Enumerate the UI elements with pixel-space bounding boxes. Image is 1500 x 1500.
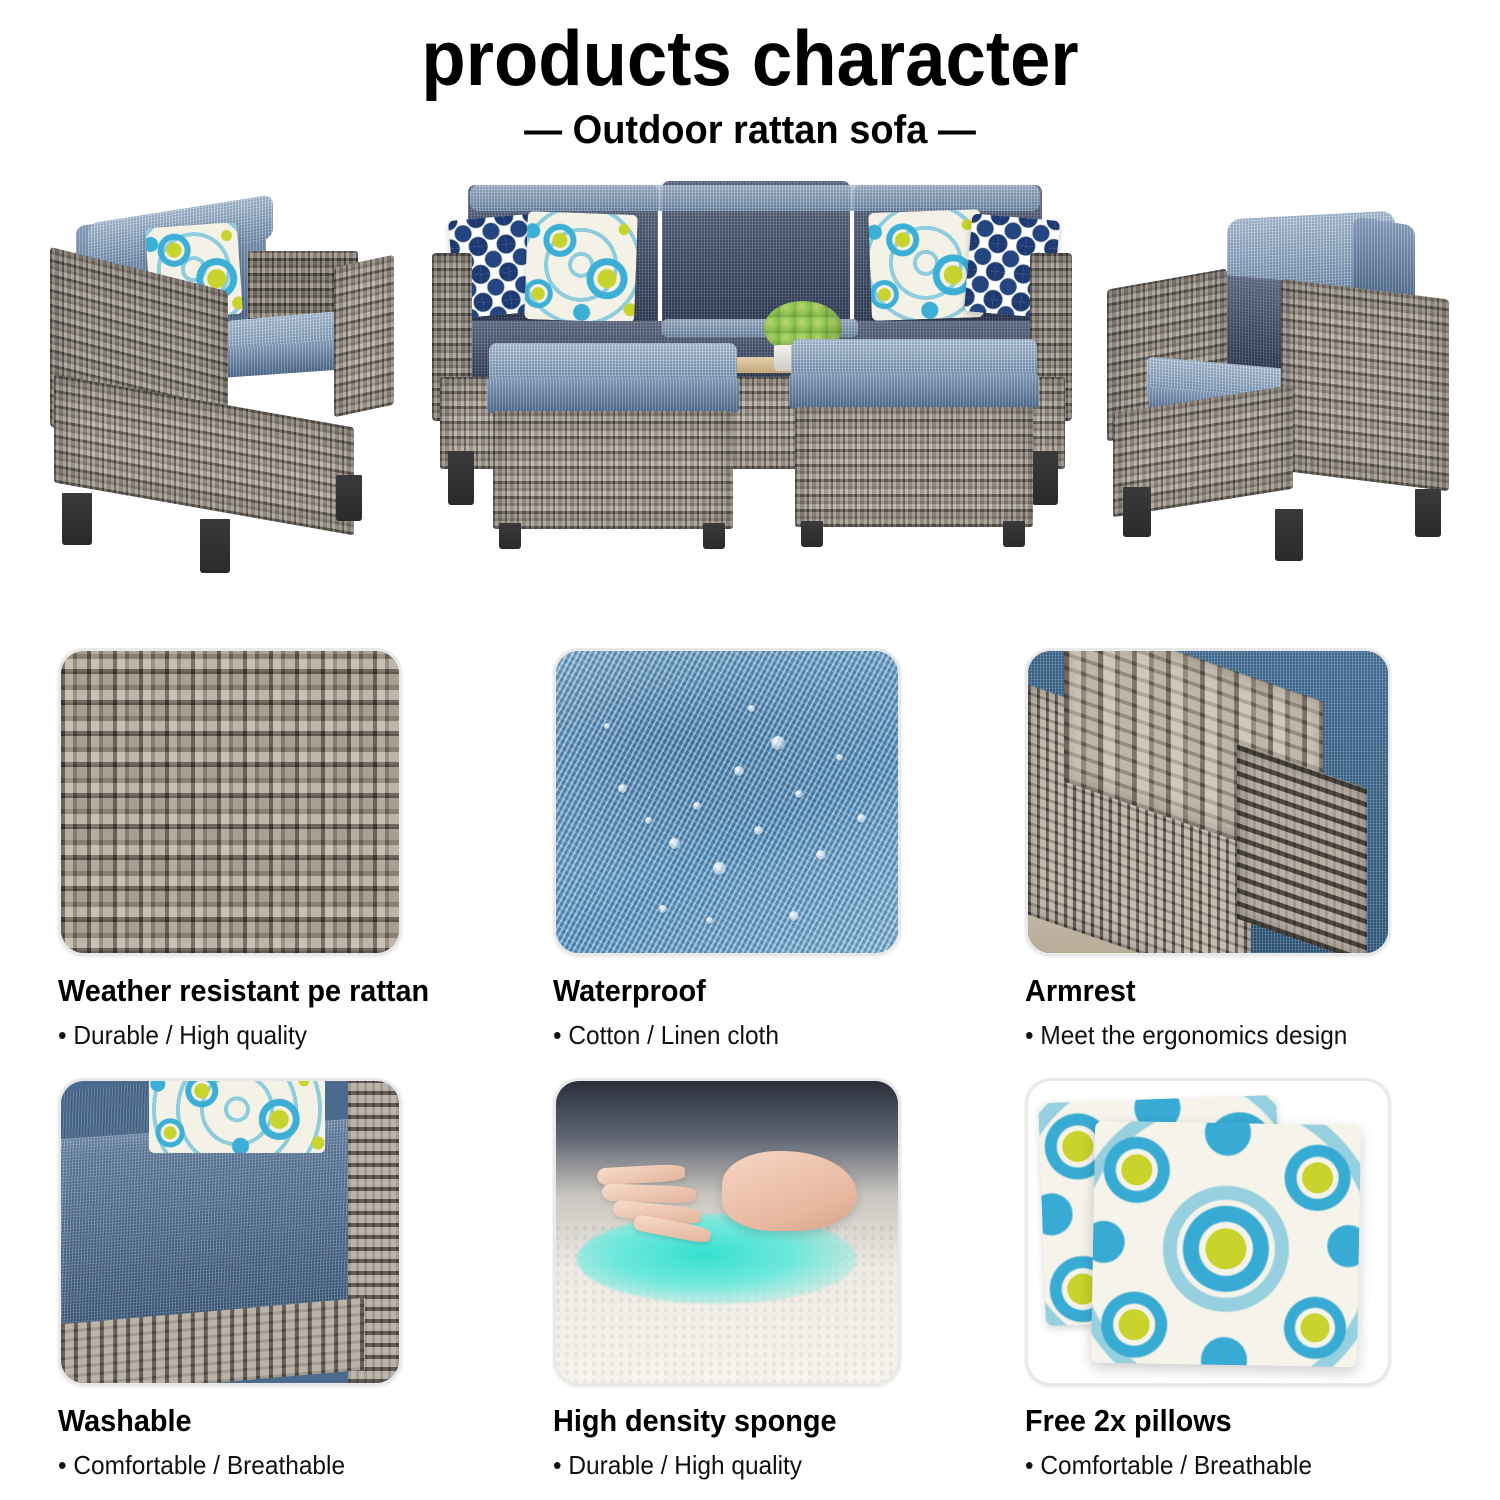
- feature-bullet: • Cotton / Linen cloth: [553, 1020, 880, 1051]
- armchair-right-arm-right: [1281, 279, 1449, 492]
- feature-card-weather-resistant-pe-rattan[interactable]: Weather resistant pe rattan • Durable / …: [58, 648, 402, 1051]
- feature-bullet: • Meet the ergonomics design: [1025, 1020, 1369, 1051]
- accent-pillow: [149, 1078, 325, 1153]
- ottoman-left-leg-left: [499, 523, 521, 549]
- page-title: products character: [53, 18, 1448, 100]
- armchair-left-leg-front-left: [62, 493, 92, 545]
- feature-heading: Free 2x pillows: [1025, 1403, 1365, 1439]
- hero-product-image: [0, 161, 1500, 581]
- infographic-header: products character — Outdoor rattan sofa…: [0, 0, 1500, 153]
- pillow-front: [1091, 1121, 1362, 1367]
- armchair-left-arm-right: [334, 255, 394, 418]
- thumb-blue-cushion-and-pillow-closeup: [58, 1078, 402, 1386]
- rattan-weave-texture: [61, 651, 399, 953]
- feature-row-1: Weather resistant pe rattan • Durable / …: [0, 640, 1500, 1070]
- armchair-left: [48, 203, 438, 563]
- feature-heading: Weather resistant pe rattan: [58, 973, 378, 1009]
- ottoman-right-base: [795, 407, 1033, 527]
- thumb-two-suzani-pattern-pillows: [1025, 1078, 1391, 1386]
- feature-grid: Weather resistant pe rattan • Durable / …: [0, 640, 1500, 1500]
- sofa-back-cushion-highlight: [470, 185, 1040, 211]
- ottoman-right-cushion-front: [789, 373, 1039, 409]
- memory-foam-scene: [556, 1081, 898, 1383]
- finger-1: [597, 1163, 686, 1185]
- feature-card-free-2x-pillows[interactable]: Free 2x pillows • Comfortable / Breathab…: [1025, 1078, 1391, 1481]
- ottoman-left-leg-right: [703, 523, 725, 549]
- armchair-left-leg-back-right: [336, 475, 362, 521]
- sofa-pillow-suzani-left: [524, 211, 638, 323]
- washable-cushion-texture: [61, 1081, 399, 1383]
- armchair-right-leg-right: [1415, 489, 1441, 537]
- thumb-woven-armrest-closeup: [1025, 648, 1391, 956]
- pillow-pair-scene: [1028, 1081, 1388, 1383]
- water-droplets: [556, 651, 898, 953]
- armchair-right: [1095, 201, 1477, 563]
- palm: [722, 1151, 857, 1231]
- feature-bullet: • Comfortable / Breathable: [1025, 1450, 1369, 1481]
- ottoman-right-leg-right: [1003, 521, 1025, 547]
- thumb-hand-pressing-memory-foam: [553, 1078, 901, 1386]
- armrest-closeup-texture: [1028, 651, 1388, 953]
- thumb-water-beads-on-blue-fabric: [553, 648, 901, 956]
- feature-card-armrest[interactable]: Armrest • Meet the ergonomics design: [1025, 648, 1391, 1051]
- sofa-leg-left: [448, 451, 474, 505]
- page-subtitle: — Outdoor rattan sofa —: [38, 108, 1463, 153]
- ottoman-left: [483, 343, 745, 555]
- ottoman-left-cushion-front: [487, 377, 739, 413]
- feature-row-2: Washable • Comfortable / Breathable: [0, 1070, 1500, 1500]
- finger-2: [602, 1183, 696, 1203]
- feature-heading: High density sponge: [553, 1403, 877, 1439]
- feature-heading: Armrest: [1025, 973, 1365, 1009]
- feature-bullet: • Durable / High quality: [58, 1020, 381, 1051]
- feature-card-washable[interactable]: Washable • Comfortable / Breathable: [58, 1078, 402, 1481]
- feature-bullet: • Comfortable / Breathable: [58, 1450, 381, 1481]
- ottoman-left-base: [493, 411, 733, 529]
- armchair-right-leg-front-left: [1123, 487, 1151, 537]
- feature-heading: Washable: [58, 1403, 378, 1439]
- feature-heading: Waterproof: [553, 973, 877, 1009]
- thumb-rattan-weave-closeup: [58, 648, 402, 956]
- ottoman-right: [785, 339, 1043, 555]
- armchair-right-leg-front-center: [1275, 509, 1303, 561]
- feature-card-waterproof[interactable]: Waterproof • Cotton / Linen cloth: [553, 648, 901, 1051]
- feature-bullet: • Durable / High quality: [553, 1450, 880, 1481]
- ottoman-right-leg-left: [801, 521, 823, 547]
- hand-icon: [597, 1129, 857, 1250]
- armchair-left-leg-front-right: [200, 519, 230, 573]
- feature-card-high-density-sponge[interactable]: High density sponge • Durable / High qua…: [553, 1078, 901, 1481]
